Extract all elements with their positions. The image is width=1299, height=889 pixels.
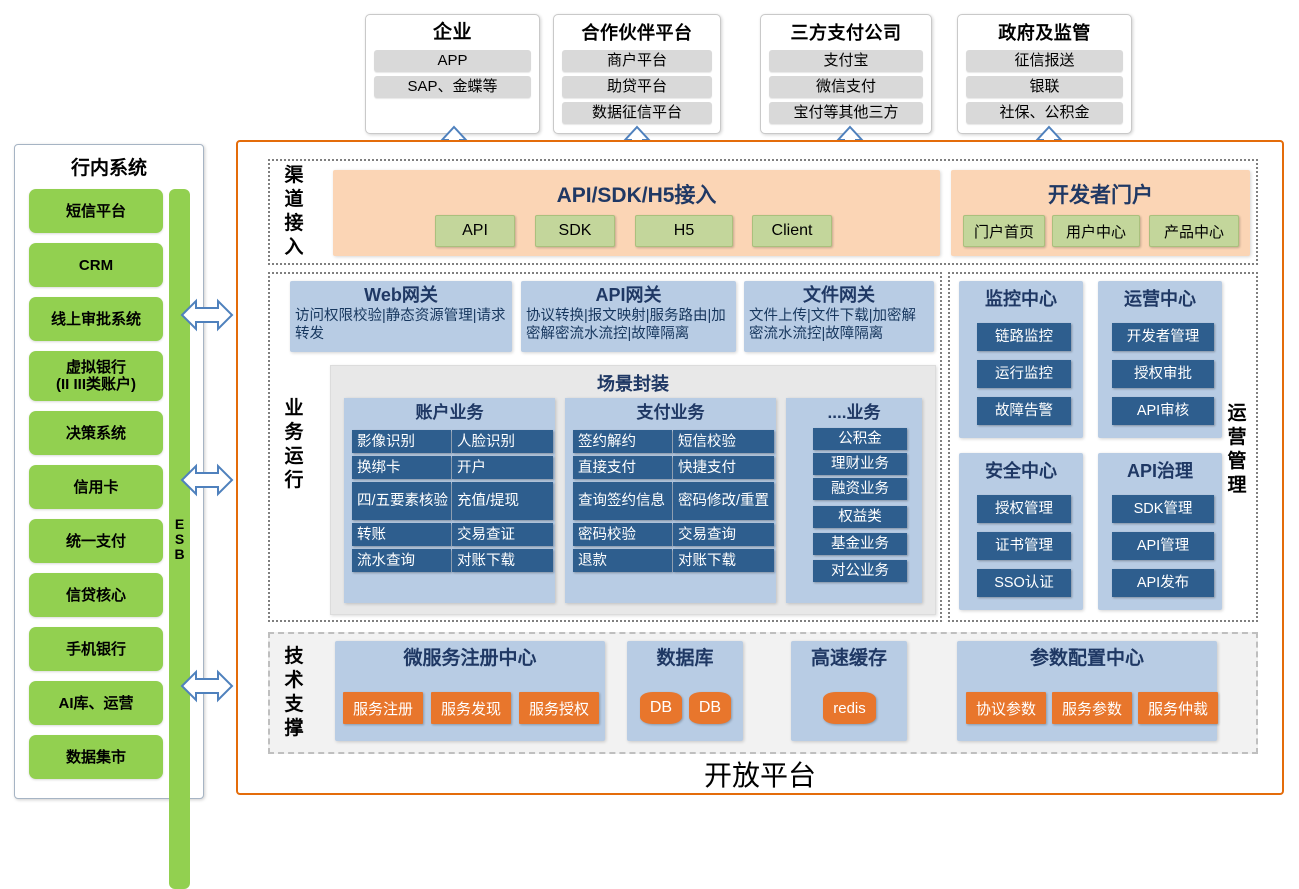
ops-card-title: 安全中心 bbox=[959, 453, 1083, 483]
api-sdk-h5-access-title: API/SDK/H5接入 bbox=[334, 179, 939, 209]
redis-cylinder[interactable]: redis bbox=[823, 692, 876, 724]
service-chip[interactable]: 开户 bbox=[452, 456, 553, 479]
ops-chip[interactable]: SSO认证 bbox=[977, 569, 1071, 597]
esb-label: S bbox=[175, 532, 184, 547]
bank-system-item[interactable]: CRM bbox=[29, 243, 163, 287]
service-chip[interactable]: 直接支付 bbox=[573, 456, 672, 479]
service-group-title: 支付业务 bbox=[565, 398, 776, 424]
gateway-card-file[interactable]: 文件网关 文件上传|文件下载|加密解密流水流控|故障隔离 bbox=[744, 281, 934, 352]
ops-chip[interactable]: 运行监控 bbox=[977, 360, 1071, 388]
tech-chip[interactable]: 服务仲裁 bbox=[1138, 692, 1218, 724]
ops-card-title: API治理 bbox=[1098, 453, 1222, 483]
in-bank-system-title: 行内系统 bbox=[15, 153, 203, 180]
business-operation-label-char: 业 bbox=[284, 397, 303, 421]
external-box-item: 助贷平台 bbox=[562, 76, 712, 98]
external-box-title: 政府及监管 bbox=[998, 20, 1091, 46]
business-operation-label-char: 行 bbox=[284, 469, 303, 493]
api-sdk-h5-access-panel: API/SDK/H5接入 API SDK H5 Client bbox=[333, 170, 940, 256]
external-box-third-party-payment: 三方支付公司 支付宝 微信支付 宝付等其他三方 bbox=[760, 14, 932, 134]
tech-card-cache: 高速缓存 redis bbox=[791, 641, 907, 741]
connector-arrow-esb-channel bbox=[182, 293, 232, 337]
gateway-desc: 协议转换|报文映射|服务路由|加密解密流水流控|故障隔离 bbox=[521, 306, 736, 343]
external-box-title: 合作伙伴平台 bbox=[582, 20, 693, 46]
service-chip[interactable]: 理财业务 bbox=[813, 453, 907, 475]
bank-system-item[interactable]: 信用卡 bbox=[29, 465, 163, 509]
portal-chip-home[interactable]: 门户首页 bbox=[963, 215, 1045, 247]
bank-system-item[interactable]: AI库、运营 bbox=[29, 681, 163, 725]
service-chip[interactable]: 退款 bbox=[573, 549, 672, 572]
tech-chip[interactable]: 服务授权 bbox=[519, 692, 599, 724]
business-operation-label-char: 运 bbox=[284, 445, 303, 469]
gateway-desc: 访问权限校验|静态资源管理|请求转发 bbox=[290, 306, 512, 343]
service-chip[interactable]: 影像识别 bbox=[352, 430, 451, 453]
ops-card-title: 运营中心 bbox=[1098, 281, 1222, 311]
external-box-item: 社保、公积金 bbox=[966, 102, 1123, 124]
service-group-title: 账户业务 bbox=[344, 398, 555, 424]
tech-chip[interactable]: 服务注册 bbox=[343, 692, 423, 724]
tech-support-label: 技 术 支 撑 bbox=[278, 639, 310, 747]
ops-card-monitor-center: 监控中心 链路监控 运行监控 故障告警 bbox=[959, 281, 1083, 438]
external-box-item: SAP、金蝶等 bbox=[374, 76, 531, 98]
channel-access-label-char: 道 bbox=[284, 188, 303, 212]
ops-chip[interactable]: API审核 bbox=[1112, 397, 1214, 425]
tech-card-title: 参数配置中心 bbox=[957, 641, 1217, 672]
channel-access-label-char: 入 bbox=[284, 236, 303, 260]
database-cylinder[interactable]: DB bbox=[640, 692, 682, 724]
tech-support-label-char: 术 bbox=[284, 669, 303, 693]
ops-management-label-char: 运 bbox=[1227, 402, 1246, 426]
ops-chip[interactable]: 授权审批 bbox=[1112, 360, 1214, 388]
ops-chip[interactable]: 链路监控 bbox=[977, 323, 1071, 351]
service-chip[interactable]: 换绑卡 bbox=[352, 456, 451, 479]
developer-portal-title: 开发者门户 bbox=[952, 179, 1249, 209]
external-box-item: APP bbox=[374, 50, 531, 72]
external-box-item: 微信支付 bbox=[769, 76, 923, 98]
tech-chip[interactable]: 服务发现 bbox=[431, 692, 511, 724]
connector-arrow-esb-business bbox=[182, 458, 232, 502]
scene-encapsulation-panel: 场景封装 账户业务 影像识别 换绑卡 四/五要素核验 转账 流水查询 人脸识别 … bbox=[330, 365, 936, 615]
gateway-desc: 文件上传|文件下载|加密解密流水流控|故障隔离 bbox=[744, 306, 934, 343]
service-chip[interactable]: 对账下载 bbox=[452, 549, 553, 572]
gateway-card-web[interactable]: Web网关 访问权限校验|静态资源管理|请求转发 bbox=[290, 281, 512, 352]
open-platform-title: 开放平台 bbox=[238, 754, 1282, 794]
channel-chip-h5[interactable]: H5 bbox=[635, 215, 733, 247]
esb-label: E bbox=[175, 517, 184, 532]
bank-system-item[interactable]: 决策系统 bbox=[29, 411, 163, 455]
ops-chip[interactable]: SDK管理 bbox=[1112, 495, 1214, 523]
external-box-item: 宝付等其他三方 bbox=[769, 102, 923, 124]
external-box-partner-platform: 合作伙伴平台 商户平台 助贷平台 数据征信平台 bbox=[553, 14, 721, 134]
channel-access-label-char: 接 bbox=[284, 212, 303, 236]
gateway-card-api[interactable]: API网关 协议转换|报文映射|服务路由|加密解密流水流控|故障隔离 bbox=[521, 281, 736, 352]
ops-chip[interactable]: 故障告警 bbox=[977, 397, 1071, 425]
service-chip[interactable]: 查询签约信息 bbox=[573, 482, 672, 520]
external-box-title: 企业 bbox=[433, 20, 472, 46]
ops-card-title: 监控中心 bbox=[959, 281, 1083, 311]
service-chip[interactable]: 流水查询 bbox=[352, 549, 451, 572]
tech-card-parameter-config: 参数配置中心 协议参数 服务参数 服务仲裁 bbox=[957, 641, 1217, 741]
tech-card-database: 数据库 DB DB bbox=[627, 641, 743, 741]
service-chip[interactable]: 权益类 bbox=[813, 506, 907, 528]
bank-system-item[interactable]: 数据集市 bbox=[29, 735, 163, 779]
external-box-item: 商户平台 bbox=[562, 50, 712, 72]
channel-chip-client[interactable]: Client bbox=[752, 215, 832, 247]
service-chip[interactable]: 基金业务 bbox=[813, 533, 907, 555]
bank-system-item[interactable]: 手机银行 bbox=[29, 627, 163, 671]
ops-management-label: 运 营 管 理 bbox=[1221, 395, 1253, 505]
channel-access-label: 渠 道 接 入 bbox=[278, 163, 310, 261]
service-chip[interactable]: 签约解约 bbox=[573, 430, 672, 453]
esb-label: B bbox=[174, 547, 184, 562]
in-bank-system-panel: 行内系统 短信平台 CRM 线上审批系统 虚拟银行 (II III类账户) 决策… bbox=[14, 144, 204, 799]
ops-card-api-governance: API治理 SDK管理 API管理 API发布 bbox=[1098, 453, 1222, 610]
service-chip[interactable]: 密码校验 bbox=[573, 523, 672, 546]
service-chip[interactable]: 四/五要素核验 bbox=[352, 482, 451, 520]
bank-system-item[interactable]: 信贷核心 bbox=[29, 573, 163, 617]
service-chip[interactable]: 对账下载 bbox=[673, 549, 774, 572]
ops-card-security-center: 安全中心 授权管理 证书管理 SSO认证 bbox=[959, 453, 1083, 610]
external-box-item: 征信报送 bbox=[966, 50, 1123, 72]
service-group-title: ....业务 bbox=[786, 398, 922, 424]
tech-card-title: 数据库 bbox=[627, 641, 743, 672]
ops-management-label-char: 营 bbox=[1227, 426, 1246, 450]
service-chip[interactable]: 短信校验 bbox=[673, 430, 774, 453]
connector-arrow-esb-tech bbox=[182, 664, 232, 708]
external-box-government-regulator: 政府及监管 征信报送 银联 社保、公积金 bbox=[957, 14, 1132, 134]
tech-support-label-char: 支 bbox=[284, 693, 303, 717]
bank-system-item[interactable]: 线上审批系统 bbox=[29, 297, 163, 341]
tech-card-title: 高速缓存 bbox=[791, 641, 907, 672]
channel-chip-sdk[interactable]: SDK bbox=[535, 215, 615, 247]
scene-encapsulation-title: 场景封装 bbox=[331, 370, 935, 396]
external-box-item: 支付宝 bbox=[769, 50, 923, 72]
channel-access-label-char: 渠 bbox=[284, 164, 303, 188]
business-operation-label-char: 务 bbox=[284, 421, 303, 445]
external-box-enterprise: 企业 APP SAP、金蝶等 bbox=[365, 14, 540, 134]
bank-system-item[interactable]: 虚拟银行 (II III类账户) bbox=[29, 351, 163, 401]
service-chip[interactable]: 充值/提现 bbox=[452, 482, 553, 520]
developer-portal-panel: 开发者门户 门户首页 用户中心 产品中心 bbox=[951, 170, 1250, 256]
service-group-other: ....业务 公积金 理财业务 融资业务 权益类 基金业务 对公业务 bbox=[786, 398, 922, 603]
ops-card-operations-center: 运营中心 开发者管理 授权审批 API审核 bbox=[1098, 281, 1222, 438]
tech-support-label-char: 撑 bbox=[284, 717, 303, 741]
tech-support-label-char: 技 bbox=[284, 645, 303, 669]
business-operation-label: 业 务 运 行 bbox=[278, 390, 310, 500]
service-group-payment: 支付业务 签约解约 直接支付 查询签约信息 密码校验 退款 短信校验 快捷支付 … bbox=[565, 398, 776, 603]
ops-chip[interactable]: API发布 bbox=[1112, 569, 1214, 597]
service-chip[interactable]: 密码修改/重置 bbox=[673, 482, 774, 520]
service-group-account: 账户业务 影像识别 换绑卡 四/五要素核验 转账 流水查询 人脸识别 开户 充值… bbox=[344, 398, 555, 603]
ops-chip[interactable]: 开发者管理 bbox=[1112, 323, 1214, 351]
bank-system-item[interactable]: 短信平台 bbox=[29, 189, 163, 233]
service-chip[interactable]: 人脸识别 bbox=[452, 430, 553, 453]
bank-system-item[interactable]: 统一支付 bbox=[29, 519, 163, 563]
service-chip[interactable]: 融资业务 bbox=[813, 478, 907, 500]
gateway-title: Web网关 bbox=[290, 284, 512, 306]
service-chip[interactable]: 交易查证 bbox=[452, 523, 553, 546]
tech-chip[interactable]: 服务参数 bbox=[1052, 692, 1132, 724]
portal-chip-user[interactable]: 用户中心 bbox=[1052, 215, 1140, 247]
service-chip[interactable]: 对公业务 bbox=[813, 560, 907, 582]
external-box-title: 三方支付公司 bbox=[791, 20, 902, 46]
service-chip[interactable]: 转账 bbox=[352, 523, 451, 546]
service-chip[interactable]: 公积金 bbox=[813, 428, 907, 450]
tech-card-microservice-registry: 微服务注册中心 服务注册 服务发现 服务授权 bbox=[335, 641, 605, 741]
portal-chip-product[interactable]: 产品中心 bbox=[1149, 215, 1239, 247]
ops-management-label-char: 管 bbox=[1227, 450, 1246, 474]
database-cylinder[interactable]: DB bbox=[689, 692, 731, 724]
external-box-item: 银联 bbox=[966, 76, 1123, 98]
gateway-title: 文件网关 bbox=[744, 284, 934, 306]
ops-management-label-char: 理 bbox=[1227, 474, 1246, 498]
architecture-diagram: 企业 APP SAP、金蝶等 合作伙伴平台 商户平台 助贷平台 数据征信平台 三… bbox=[0, 0, 1299, 799]
ops-chip[interactable]: 证书管理 bbox=[977, 532, 1071, 560]
service-chip[interactable]: 快捷支付 bbox=[673, 456, 774, 479]
tech-card-title: 微服务注册中心 bbox=[335, 641, 605, 672]
ops-chip[interactable]: 授权管理 bbox=[977, 495, 1071, 523]
tech-chip[interactable]: 协议参数 bbox=[966, 692, 1046, 724]
ops-chip[interactable]: API管理 bbox=[1112, 532, 1214, 560]
external-box-item: 数据征信平台 bbox=[562, 102, 712, 124]
gateway-title: API网关 bbox=[521, 284, 736, 306]
channel-chip-api[interactable]: API bbox=[435, 215, 515, 247]
service-chip[interactable]: 交易查询 bbox=[673, 523, 774, 546]
